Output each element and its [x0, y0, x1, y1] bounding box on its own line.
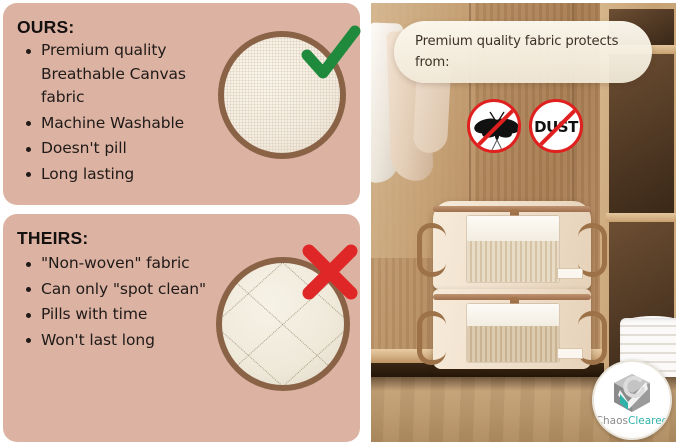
bag-handle — [417, 223, 446, 277]
brand-tag — [557, 348, 583, 359]
list-item: Can only "spot clean" — [25, 278, 215, 302]
ours-title: OURS: — [17, 17, 74, 38]
list-item: Long lasting — [25, 163, 215, 187]
folded-textiles — [467, 326, 559, 362]
window-contents — [467, 216, 559, 242]
storage-bag-bottom — [433, 289, 591, 369]
brand-name-part1: Chaos — [596, 415, 628, 427]
list-item: Won't last long — [25, 329, 215, 353]
brand-logo: ChaosCleared — [592, 360, 672, 440]
brand-name: ChaosCleared — [594, 415, 670, 427]
callout-text: Premium quality fabric protects from: — [415, 31, 640, 73]
product-photo: Premium quality fabric protects from: — [371, 3, 676, 442]
bag-view-window — [466, 215, 560, 283]
ours-panel: OURS: Premium quality Breathable Canvas … — [3, 3, 360, 205]
list-item: Pills with time — [25, 303, 215, 327]
bag-view-window — [466, 303, 560, 363]
check-mark-icon — [301, 25, 361, 81]
bag-handle — [417, 311, 446, 365]
theirs-bullet-list: "Non-woven" fabric Can only "spot clean"… — [25, 252, 215, 354]
list-item: Machine Washable — [25, 112, 215, 136]
brand-name-part2: Cleared — [628, 415, 668, 427]
theirs-title: THEIRS: — [17, 228, 88, 249]
no-moth-badge — [467, 99, 521, 153]
comparison-column: OURS: Premium quality Breathable Canvas … — [3, 3, 360, 442]
list-item: "Non-woven" fabric — [25, 252, 215, 276]
folded-textiles — [467, 241, 559, 282]
storage-bag-top — [433, 201, 591, 289]
protection-badges: DUST — [467, 99, 597, 155]
list-item: Premium quality Breathable Canvas fabric — [25, 39, 215, 110]
list-item: Doesn't pill — [25, 137, 215, 161]
brand-tag — [557, 268, 583, 279]
shelf-board — [606, 213, 676, 222]
infographic-canvas: OURS: Premium quality Breathable Canvas … — [0, 0, 679, 445]
cube-swirl-icon — [610, 372, 654, 414]
ours-bullet-list: Premium quality Breathable Canvas fabric… — [25, 39, 215, 188]
window-contents — [467, 304, 559, 327]
no-dust-badge: DUST — [529, 99, 583, 153]
callout-bubble: Premium quality fabric protects from: — [394, 21, 652, 83]
cross-mark-icon — [299, 243, 361, 301]
